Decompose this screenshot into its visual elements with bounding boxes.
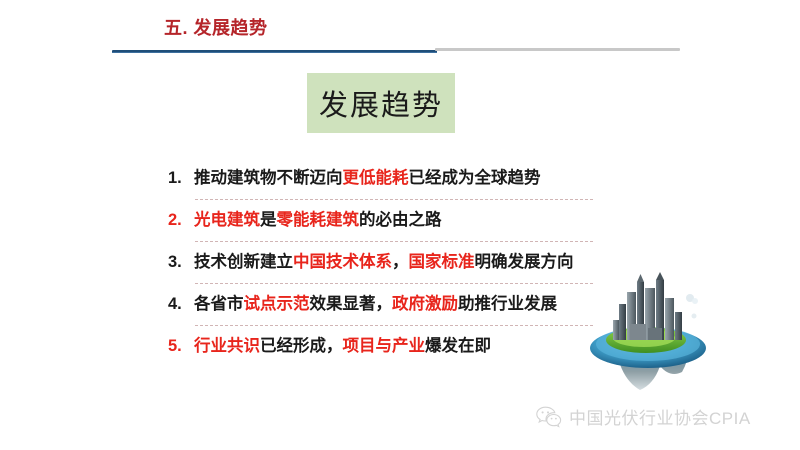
list-item-segment: 更低能耗 (343, 169, 409, 187)
slide-canvas: 五. 发展趋势 发展趋势 1.推动建筑物不断迈向更低能耗已经成为全球趋势2.光电… (0, 0, 800, 450)
floating-earth-city-image (586, 268, 720, 398)
list-separator (195, 241, 593, 242)
list-item-text: 光电建筑是零能耗建筑的必由之路 (194, 206, 442, 230)
list-item-number: 3. (168, 253, 194, 272)
list-item-segment: 效果显著， (310, 295, 393, 313)
list-item-segment: ， (392, 253, 409, 271)
list-item: 4.各省市试点示范效果显著，政府激励助推行业发展 (168, 286, 588, 328)
list-item-line: 4.各省市试点示范效果显著，政府激励助推行业发展 (168, 286, 588, 314)
list-item-number: 5. (168, 337, 194, 356)
page-title: 发展趋势 (319, 82, 443, 124)
list-item-number: 2. (168, 211, 194, 230)
list-item-segment: 爆发在即 (425, 337, 491, 355)
watermark: 中国光伏行业协会CPIA (536, 404, 751, 429)
list-item-line: 2.光电建筑是零能耗建筑的必由之路 (168, 202, 588, 230)
list-item-segment: 技术创新建立 (194, 253, 293, 271)
watermark-label: 中国光伏行业协会CPIA (569, 404, 751, 429)
list-item-segment: 助推行业发展 (458, 295, 557, 313)
list-item-line: 3.技术创新建立中国技术体系，国家标准明确发展方向 (168, 244, 588, 272)
list-item-text: 各省市试点示范效果显著，政府激励助推行业发展 (194, 290, 557, 314)
list-item: 1.推动建筑物不断迈向更低能耗已经成为全球趋势 (168, 160, 588, 202)
section-header-label: 五. 发展趋势 (164, 14, 268, 40)
header-rule-navy (112, 50, 437, 53)
list-item-segment: 政府激励 (392, 295, 458, 313)
list-item-text: 推动建筑物不断迈向更低能耗已经成为全球趋势 (194, 164, 541, 188)
list-item-text: 行业共识已经形成，项目与产业爆发在即 (194, 332, 491, 356)
list-item-number: 4. (168, 295, 194, 314)
trend-list: 1.推动建筑物不断迈向更低能耗已经成为全球趋势2.光电建筑是零能耗建筑的必由之路… (168, 160, 588, 370)
list-item-segment: 试点示范 (244, 295, 310, 313)
list-item-segment: 已经成为全球趋势 (409, 169, 541, 187)
list-item-segment: 项目与产业 (343, 337, 426, 355)
list-item-segment: 各省市 (194, 295, 244, 313)
list-item-segment: 中国技术体系 (293, 253, 392, 271)
list-item-segment: 零能耗建筑 (277, 211, 360, 229)
list-item-segment: 国家标准 (409, 253, 475, 271)
list-item: 5.行业共识已经形成，项目与产业爆发在即 (168, 328, 588, 370)
list-item-segment: 明确发展方向 (475, 253, 574, 271)
list-item: 3.技术创新建立中国技术体系，国家标准明确发展方向 (168, 244, 588, 286)
slide-title-box: 发展趋势 (307, 73, 455, 133)
list-item-line: 1.推动建筑物不断迈向更低能耗已经成为全球趋势 (168, 160, 588, 188)
list-item-line: 5.行业共识已经形成，项目与产业爆发在即 (168, 328, 588, 356)
list-separator (195, 199, 593, 200)
list-item-text: 技术创新建立中国技术体系，国家标准明确发展方向 (194, 248, 574, 272)
list-item-number: 1. (168, 169, 194, 188)
list-item-segment: 的必由之路 (359, 211, 442, 229)
list-separator (195, 283, 593, 284)
list-item-segment: 是 (260, 211, 277, 229)
header-rule-gray (435, 48, 680, 51)
list-item-segment: 推动建筑物不断迈向 (194, 169, 343, 187)
wechat-icon (536, 406, 562, 428)
list-item-segment: 光电建筑 (194, 211, 260, 229)
list-item-segment: 已经形成， (260, 337, 343, 355)
list-separator (195, 325, 593, 326)
list-item-segment: 行业共识 (194, 337, 260, 355)
list-item: 2.光电建筑是零能耗建筑的必由之路 (168, 202, 588, 244)
